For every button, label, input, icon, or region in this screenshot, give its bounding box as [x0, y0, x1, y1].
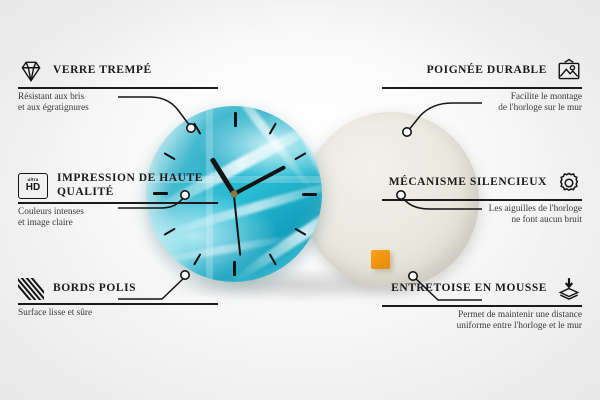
feature-header: ultra HD IMPRESSION DE HAUTE QUALITÉ — [18, 172, 218, 199]
feature-title: VERRE TREMPÉ — [53, 64, 152, 78]
hour-tick — [294, 152, 306, 160]
feature-header: VERRE TREMPÉ — [18, 58, 218, 84]
hour-tick — [233, 261, 236, 276]
diamond-icon — [18, 58, 44, 84]
feature-subtitle: Surface lisse et sûre — [18, 308, 218, 319]
feature-verre-trempe: VERRE TREMPÉ Résistant aux bris et aux é… — [18, 58, 218, 114]
feature-mecanisme-silencieux: MÉCANISME SILENCIEUX Les aiguilles de l'… — [382, 170, 582, 226]
feature-subtitle: Couleurs intenses et image claire — [18, 207, 218, 230]
foam-spacer-icon — [556, 276, 582, 302]
feature-subtitle: Permet de maintenir une distance uniform… — [382, 310, 582, 333]
divider — [18, 202, 218, 204]
feature-title: POIGNÉE DURABLE — [427, 64, 547, 78]
feature-poignee-durable: POIGNÉE DURABLE Facilite le montage de l… — [382, 58, 582, 114]
hanging-frame-icon — [556, 58, 582, 84]
feature-title: BORDS POLIS — [53, 282, 136, 296]
divider — [382, 87, 582, 89]
hands-center-cap — [231, 191, 238, 198]
divider — [18, 87, 218, 89]
infographic-canvas: VERRE TREMPÉ Résistant aux bris et aux é… — [0, 0, 600, 400]
feature-header: MÉCANISME SILENCIEUX — [382, 170, 582, 196]
feature-header: BORDS POLIS — [18, 278, 218, 300]
feature-entretoise-en-mousse: ENTRETOISE EN MOUSSE Permet de maintenir… — [382, 276, 582, 332]
feature-title: MÉCANISME SILENCIEUX — [389, 176, 547, 190]
feature-header: ENTRETOISE EN MOUSSE — [382, 276, 582, 302]
divider — [18, 303, 218, 305]
hour-tick — [234, 112, 237, 127]
hour-tick — [302, 193, 317, 196]
ultra-hd-main-text: HD — [26, 183, 40, 193]
feature-title: ENTRETOISE EN MOUSSE — [391, 282, 547, 296]
feature-header: POIGNÉE DURABLE — [382, 58, 582, 84]
feature-title: IMPRESSION DE HAUTE QUALITÉ — [57, 172, 218, 199]
polished-edges-icon — [18, 278, 44, 300]
feature-impression-haute-qualite: ultra HD IMPRESSION DE HAUTE QUALITÉ Cou… — [18, 172, 218, 229]
gear-icon — [556, 170, 582, 196]
feature-subtitle: Facilite le montage de l'horloge sur le … — [382, 92, 582, 115]
foam-spacer — [371, 250, 390, 269]
feature-subtitle: Les aiguilles de l'horloge ne font aucun… — [382, 204, 582, 227]
feature-subtitle: Résistant aux bris et aux égratignures — [18, 92, 218, 115]
feature-bords-polis: BORDS POLIS Surface lisse et sûre — [18, 278, 218, 319]
ultra-hd-icon: ultra HD — [18, 173, 48, 199]
divider — [382, 305, 582, 307]
divider — [382, 199, 582, 201]
